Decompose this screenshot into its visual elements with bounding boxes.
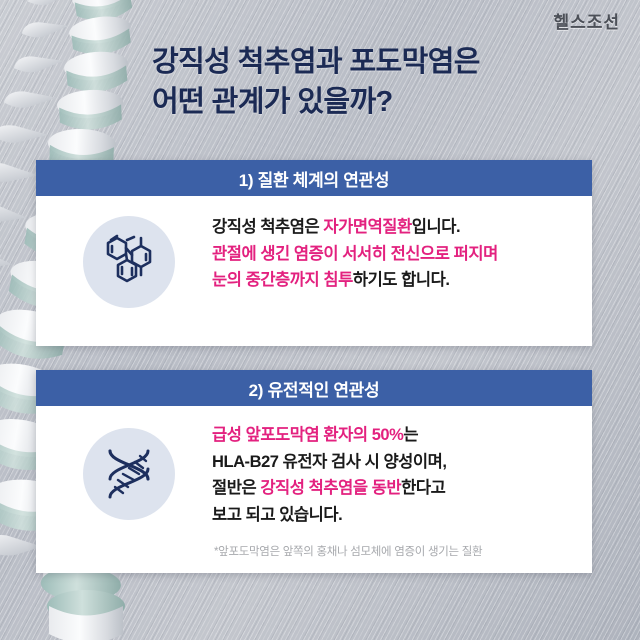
section-1-text-line-1: 강직성 척추염은 자가면역질환입니다.	[212, 214, 578, 241]
section-1-header-text: 1) 질환 체계의 연관성	[239, 166, 390, 191]
brand-logo: 헬스조선	[553, 8, 620, 33]
section-2-text-line-2: HLA-B27 유전자 검사 시 양성이며,	[212, 449, 578, 476]
text-run: 한다고	[401, 479, 445, 497]
text-run: 절반은	[212, 479, 260, 497]
section-1-text: 강직성 척추염은 자가면역질환입니다.관절에 생긴 염증이 서서히 전신으로 퍼…	[212, 214, 578, 294]
section-1-text-line-3: 눈의 중간층까지 침투하기도 합니다.	[212, 267, 578, 294]
section-2-text-line-3: 절반은 강직성 척추염을 동반한다고	[212, 475, 578, 502]
section-1-header: 1) 질환 체계의 연관성	[36, 160, 592, 196]
dna-icon-circle	[83, 428, 175, 520]
molecule-icon	[96, 229, 162, 295]
text-run: 보고 되고 있습니다.	[212, 506, 342, 524]
section-2-text: 급성 앞포도막염 환자의 50%는HLA-B27 유전자 검사 시 양성이며,절…	[212, 422, 578, 529]
molecule-icon-circle	[83, 216, 175, 308]
text-run-highlight: 관절에 생긴 염증이 서서히 전신으로 퍼지며	[212, 245, 498, 263]
text-run: 하기도 합니다.	[353, 271, 450, 289]
text-run: HLA-B27 유전자 검사 시 양성이며,	[212, 453, 447, 471]
text-run: 강직성 척추염은	[212, 218, 323, 236]
section-2-footnote: *앞포도막염은 앞쪽의 홍채나 섬모체에 염증이 생기는 질환	[214, 543, 482, 559]
page-title-line-2: 어떤 관계가 있을까?	[152, 82, 480, 122]
text-run-highlight: 자가면역질환	[323, 218, 411, 236]
page-title-line-1: 강직성 척추염과 포도막염은	[152, 42, 480, 82]
section-2-text-line-4: 보고 되고 있습니다.	[212, 502, 578, 529]
section-2-header: 2) 유전적인 연관성	[36, 370, 592, 406]
infographic-canvas: 헬스조선 강직성 척추염과 포도막염은 어떤 관계가 있을까? 1) 질환 체계…	[0, 0, 640, 640]
section-1-body: 강직성 척추염은 자가면역질환입니다.관절에 생긴 염증이 서서히 전신으로 퍼…	[36, 196, 592, 346]
section-1-text-line-2: 관절에 생긴 염증이 서서히 전신으로 퍼지며	[212, 241, 578, 268]
section-2-header-text: 2) 유전적인 연관성	[249, 376, 380, 401]
page-title: 강직성 척추염과 포도막염은 어떤 관계가 있을까?	[152, 42, 480, 122]
text-run-highlight: 강직성 척추염을 동반	[260, 479, 401, 497]
text-run-highlight: 눈의 중간층까지 침투	[212, 271, 353, 289]
text-run: 입니다.	[412, 218, 460, 236]
section-card-1: 1) 질환 체계의 연관성	[36, 160, 592, 346]
dna-icon	[96, 441, 162, 507]
section-card-2: 2) 유전적인 연관성	[36, 370, 592, 573]
section-2-text-line-1: 급성 앞포도막염 환자의 50%는	[212, 422, 578, 449]
section-2-body: 급성 앞포도막염 환자의 50%는HLA-B27 유전자 검사 시 양성이며,절…	[36, 406, 592, 573]
text-run: 는	[403, 426, 418, 444]
text-run-highlight: 급성 앞포도막염 환자의 50%	[212, 426, 403, 444]
